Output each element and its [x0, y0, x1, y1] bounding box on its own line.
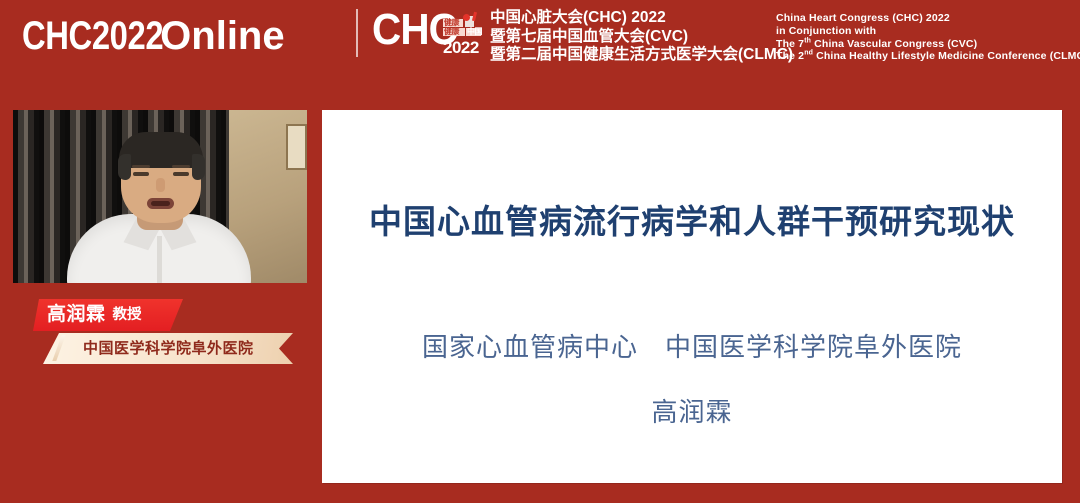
- speaker-role: 教授: [113, 307, 142, 323]
- speaker-eyebrow-right: [172, 165, 190, 168]
- header-bar: CHC2022Online CHC 健康 健康 中国 2022 中国心脏大会: [0, 0, 1080, 82]
- conference-title-english: China Heart Congress (CHC) 2022 in Conju…: [776, 12, 1080, 63]
- header-divider: [356, 9, 358, 57]
- conference-title-en-line-1: China Heart Congress (CHC) 2022: [776, 12, 1080, 25]
- en-line4-sup: nd: [804, 50, 813, 57]
- en-line3-pre: The 7: [776, 38, 804, 50]
- conference-title-en-line-2: in Conjunction with: [776, 25, 1080, 38]
- en-line3-post: China Vascular Congress (CVC): [811, 38, 977, 50]
- badge-glyph-line3: 中国: [467, 28, 482, 37]
- webinar-screen: CHC2022Online CHC 健康 健康 中国 2022 中国心脏大会: [0, 0, 1080, 503]
- wall-picture-frame: [286, 124, 307, 170]
- slide-subtitle-organization: 国家心血管病中心 中国医学科学院阜外医院: [322, 330, 1062, 364]
- speaker-name-banner: 高润霖 教授: [33, 299, 183, 331]
- conference-title-chinese: 中国心脏大会(CHC) 2022 暨第七届中国血管大会(CVC) 暨第二届中国健…: [490, 9, 793, 65]
- healthy-china-badge-icon: 健康 健康 中国: [442, 11, 482, 38]
- speaker-shirt-placket: [157, 236, 162, 283]
- conference-title-cn-line-3: 暨第二届中国健康生活方式医学大会(CLMC): [490, 46, 793, 65]
- speaker-nose: [156, 178, 165, 192]
- slide-subtitle-presenter: 高润霖: [322, 395, 1062, 429]
- speaker-mouth-inner: [151, 201, 170, 206]
- conference-title-cn-line-2: 暨第七届中国血管大会(CVC): [490, 28, 793, 47]
- speaker-hair: [119, 132, 203, 168]
- speaker-eyebrow-left: [132, 165, 150, 168]
- badge-glyph-line2: 健康: [444, 28, 459, 37]
- chc-logo: CHC 健康 健康 中国 2022: [372, 9, 484, 61]
- en-line4-pre: The 2: [776, 50, 804, 62]
- brand-wordmark-main: CHC2022: [22, 14, 163, 58]
- slide-title: 中国心血管病流行病学和人群干预研究现状: [322, 202, 1062, 242]
- brand-wordmark-suffix: Online: [160, 14, 284, 58]
- speaker-hair-left: [118, 154, 131, 180]
- speaker-name: 高润霖: [47, 305, 106, 325]
- speaker-eye-left: [133, 172, 149, 176]
- presentation-slide[interactable]: 中国心血管病流行病学和人群干预研究现状 国家心血管病中心 中国医学科学院阜外医院…: [322, 110, 1062, 483]
- brand-wordmark: CHC2022Online: [22, 14, 285, 58]
- conference-title-cn-line-1: 中国心脏大会(CHC) 2022: [490, 9, 793, 28]
- conference-title-en-line-3: The 7th China Vascular Congress (CVC): [776, 38, 1080, 51]
- video-scene: [13, 110, 307, 283]
- speaker-eye-right: [173, 172, 189, 176]
- chc-logo-year: 2022: [443, 39, 479, 57]
- speaker-hair-right: [192, 154, 205, 180]
- conference-title-en-line-4: The 2nd China Healthy Lifestyle Medicine…: [776, 50, 1080, 63]
- speaker-affiliation-banner: 中国医学科学院阜外医院: [43, 333, 293, 364]
- speaker-affiliation: 中国医学科学院阜外医院: [83, 341, 254, 357]
- en-line4-post: China Healthy Lifestyle Medicine Confere…: [813, 50, 1080, 62]
- speaker-video-panel[interactable]: [13, 110, 307, 283]
